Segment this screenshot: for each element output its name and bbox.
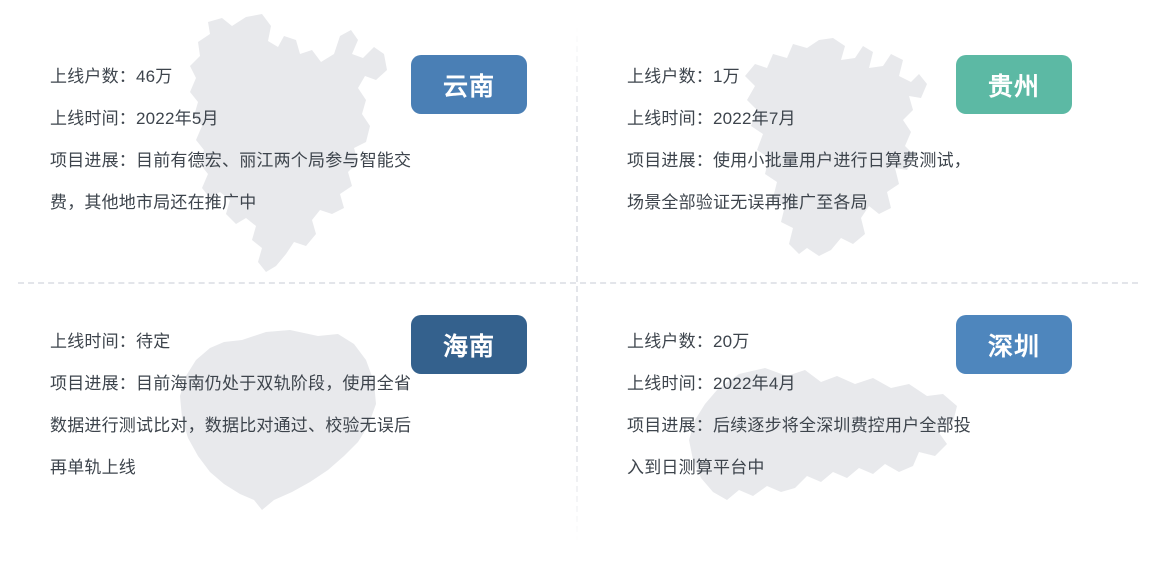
info-line: 项目进展：后续逐步将全深圳费控用户全部投 <box>627 405 971 447</box>
province-badge-guizhou[interactable]: 贵州 <box>956 55 1072 114</box>
panel-shenzhen: 上线户数：20万 上线时间：2022年4月 项目进展：后续逐步将全深圳费控用户全… <box>577 283 1154 566</box>
info-line: 费，其他地市局还在推广中 <box>50 182 411 224</box>
yunnan-info-text: 上线户数：46万 上线时间：2022年5月 项目进展：目前有德宏、丽江两个局参与… <box>50 56 411 224</box>
info-line: 项目进展：使用小批量用户进行日算费测试， <box>627 140 971 182</box>
info-line: 上线户数：46万 <box>50 56 411 98</box>
info-line: 上线户数：1万 <box>627 56 971 98</box>
shenzhen-info-text: 上线户数：20万 上线时间：2022年4月 项目进展：后续逐步将全深圳费控用户全… <box>627 321 971 489</box>
province-badge-label: 深圳 <box>988 327 1040 363</box>
infographic-canvas: 上线户数：46万 上线时间：2022年5月 项目进展：目前有德宏、丽江两个局参与… <box>0 0 1154 566</box>
info-line: 上线时间：2022年5月 <box>50 98 411 140</box>
info-line: 再单轨上线 <box>50 447 411 489</box>
province-badge-label: 云南 <box>443 67 495 103</box>
province-badge-label: 贵州 <box>988 67 1040 103</box>
info-line: 项目进展：目前有德宏、丽江两个局参与智能交 <box>50 140 411 182</box>
panel-hainan: 上线时间：待定 项目进展：目前海南仍处于双轨阶段，使用全省 数据进行测试比对，数… <box>0 283 577 566</box>
info-line: 上线时间：2022年7月 <box>627 98 971 140</box>
province-badge-label: 海南 <box>443 327 495 363</box>
info-line: 场景全部验证无误再推广至各局 <box>627 182 971 224</box>
info-line: 数据进行测试比对，数据比对通过、校验无误后 <box>50 405 411 447</box>
province-badge-hainan[interactable]: 海南 <box>411 315 527 374</box>
hainan-info-text: 上线时间：待定 项目进展：目前海南仍处于双轨阶段，使用全省 数据进行测试比对，数… <box>50 321 411 489</box>
province-badge-yunnan[interactable]: 云南 <box>411 55 527 114</box>
panel-guizhou: 上线户数：1万 上线时间：2022年7月 项目进展：使用小批量用户进行日算费测试… <box>577 0 1154 283</box>
province-badge-shenzhen[interactable]: 深圳 <box>956 315 1072 374</box>
info-line: 上线时间：待定 <box>50 321 411 363</box>
info-line: 入到日测算平台中 <box>627 447 971 489</box>
info-line: 上线户数：20万 <box>627 321 971 363</box>
info-line: 上线时间：2022年4月 <box>627 363 971 405</box>
guizhou-info-text: 上线户数：1万 上线时间：2022年7月 项目进展：使用小批量用户进行日算费测试… <box>627 56 971 224</box>
panel-yunnan: 上线户数：46万 上线时间：2022年5月 项目进展：目前有德宏、丽江两个局参与… <box>0 0 577 283</box>
info-line: 项目进展：目前海南仍处于双轨阶段，使用全省 <box>50 363 411 405</box>
